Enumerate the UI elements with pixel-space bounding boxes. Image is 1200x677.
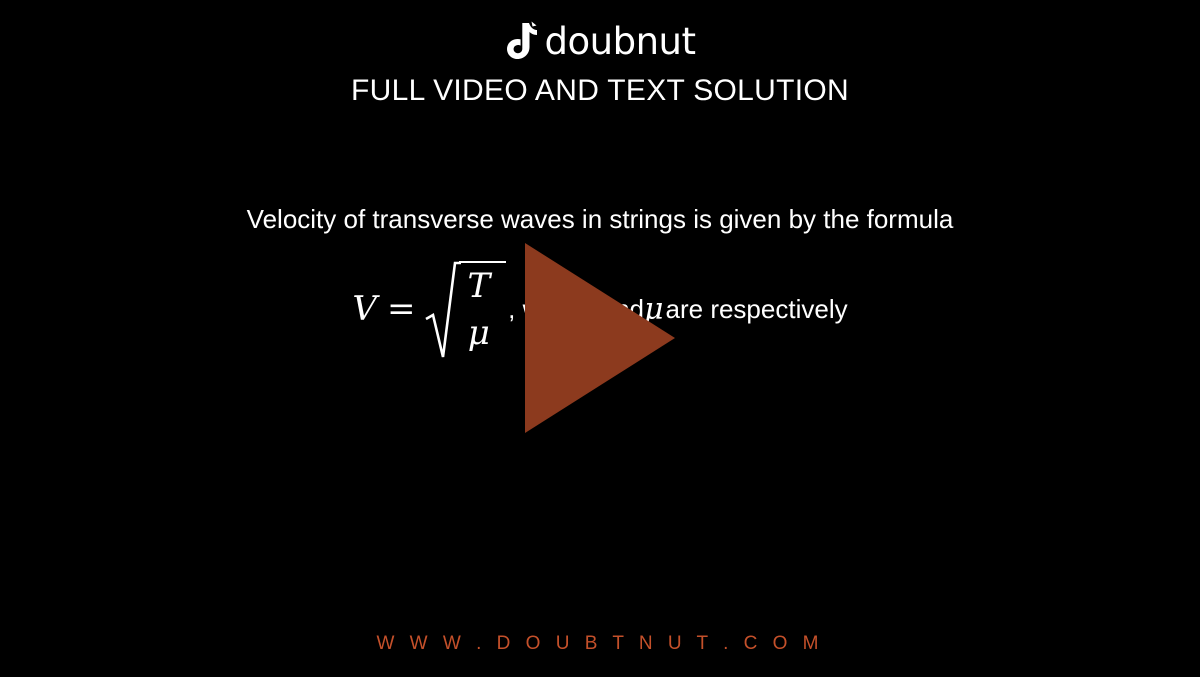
brand-logo: doubnut xyxy=(0,18,1200,64)
play-button[interactable] xyxy=(525,243,675,433)
formula-variable: V xyxy=(352,284,377,335)
doubtnut-note-icon xyxy=(505,21,539,61)
brand-logo-text: doubnut xyxy=(545,23,696,60)
formula-radical: T μ xyxy=(425,257,506,361)
page-title: FULL VIDEO AND TEXT SOLUTION xyxy=(0,74,1200,108)
formula-equals: = xyxy=(387,284,416,335)
fraction-denominator: μ xyxy=(462,312,496,357)
radical-sign-icon xyxy=(425,257,459,361)
footer-url: W W W . D O U B T N U T . C O M xyxy=(0,633,1200,655)
formula-expression: V = T μ xyxy=(352,257,506,361)
fraction-numerator: T xyxy=(461,263,496,308)
question-tail-after: are respectively xyxy=(666,290,848,329)
question-line-1: Velocity of transverse waves in strings … xyxy=(100,200,1100,239)
formula-fraction: T μ xyxy=(459,261,506,357)
play-triangle-icon xyxy=(525,243,675,433)
